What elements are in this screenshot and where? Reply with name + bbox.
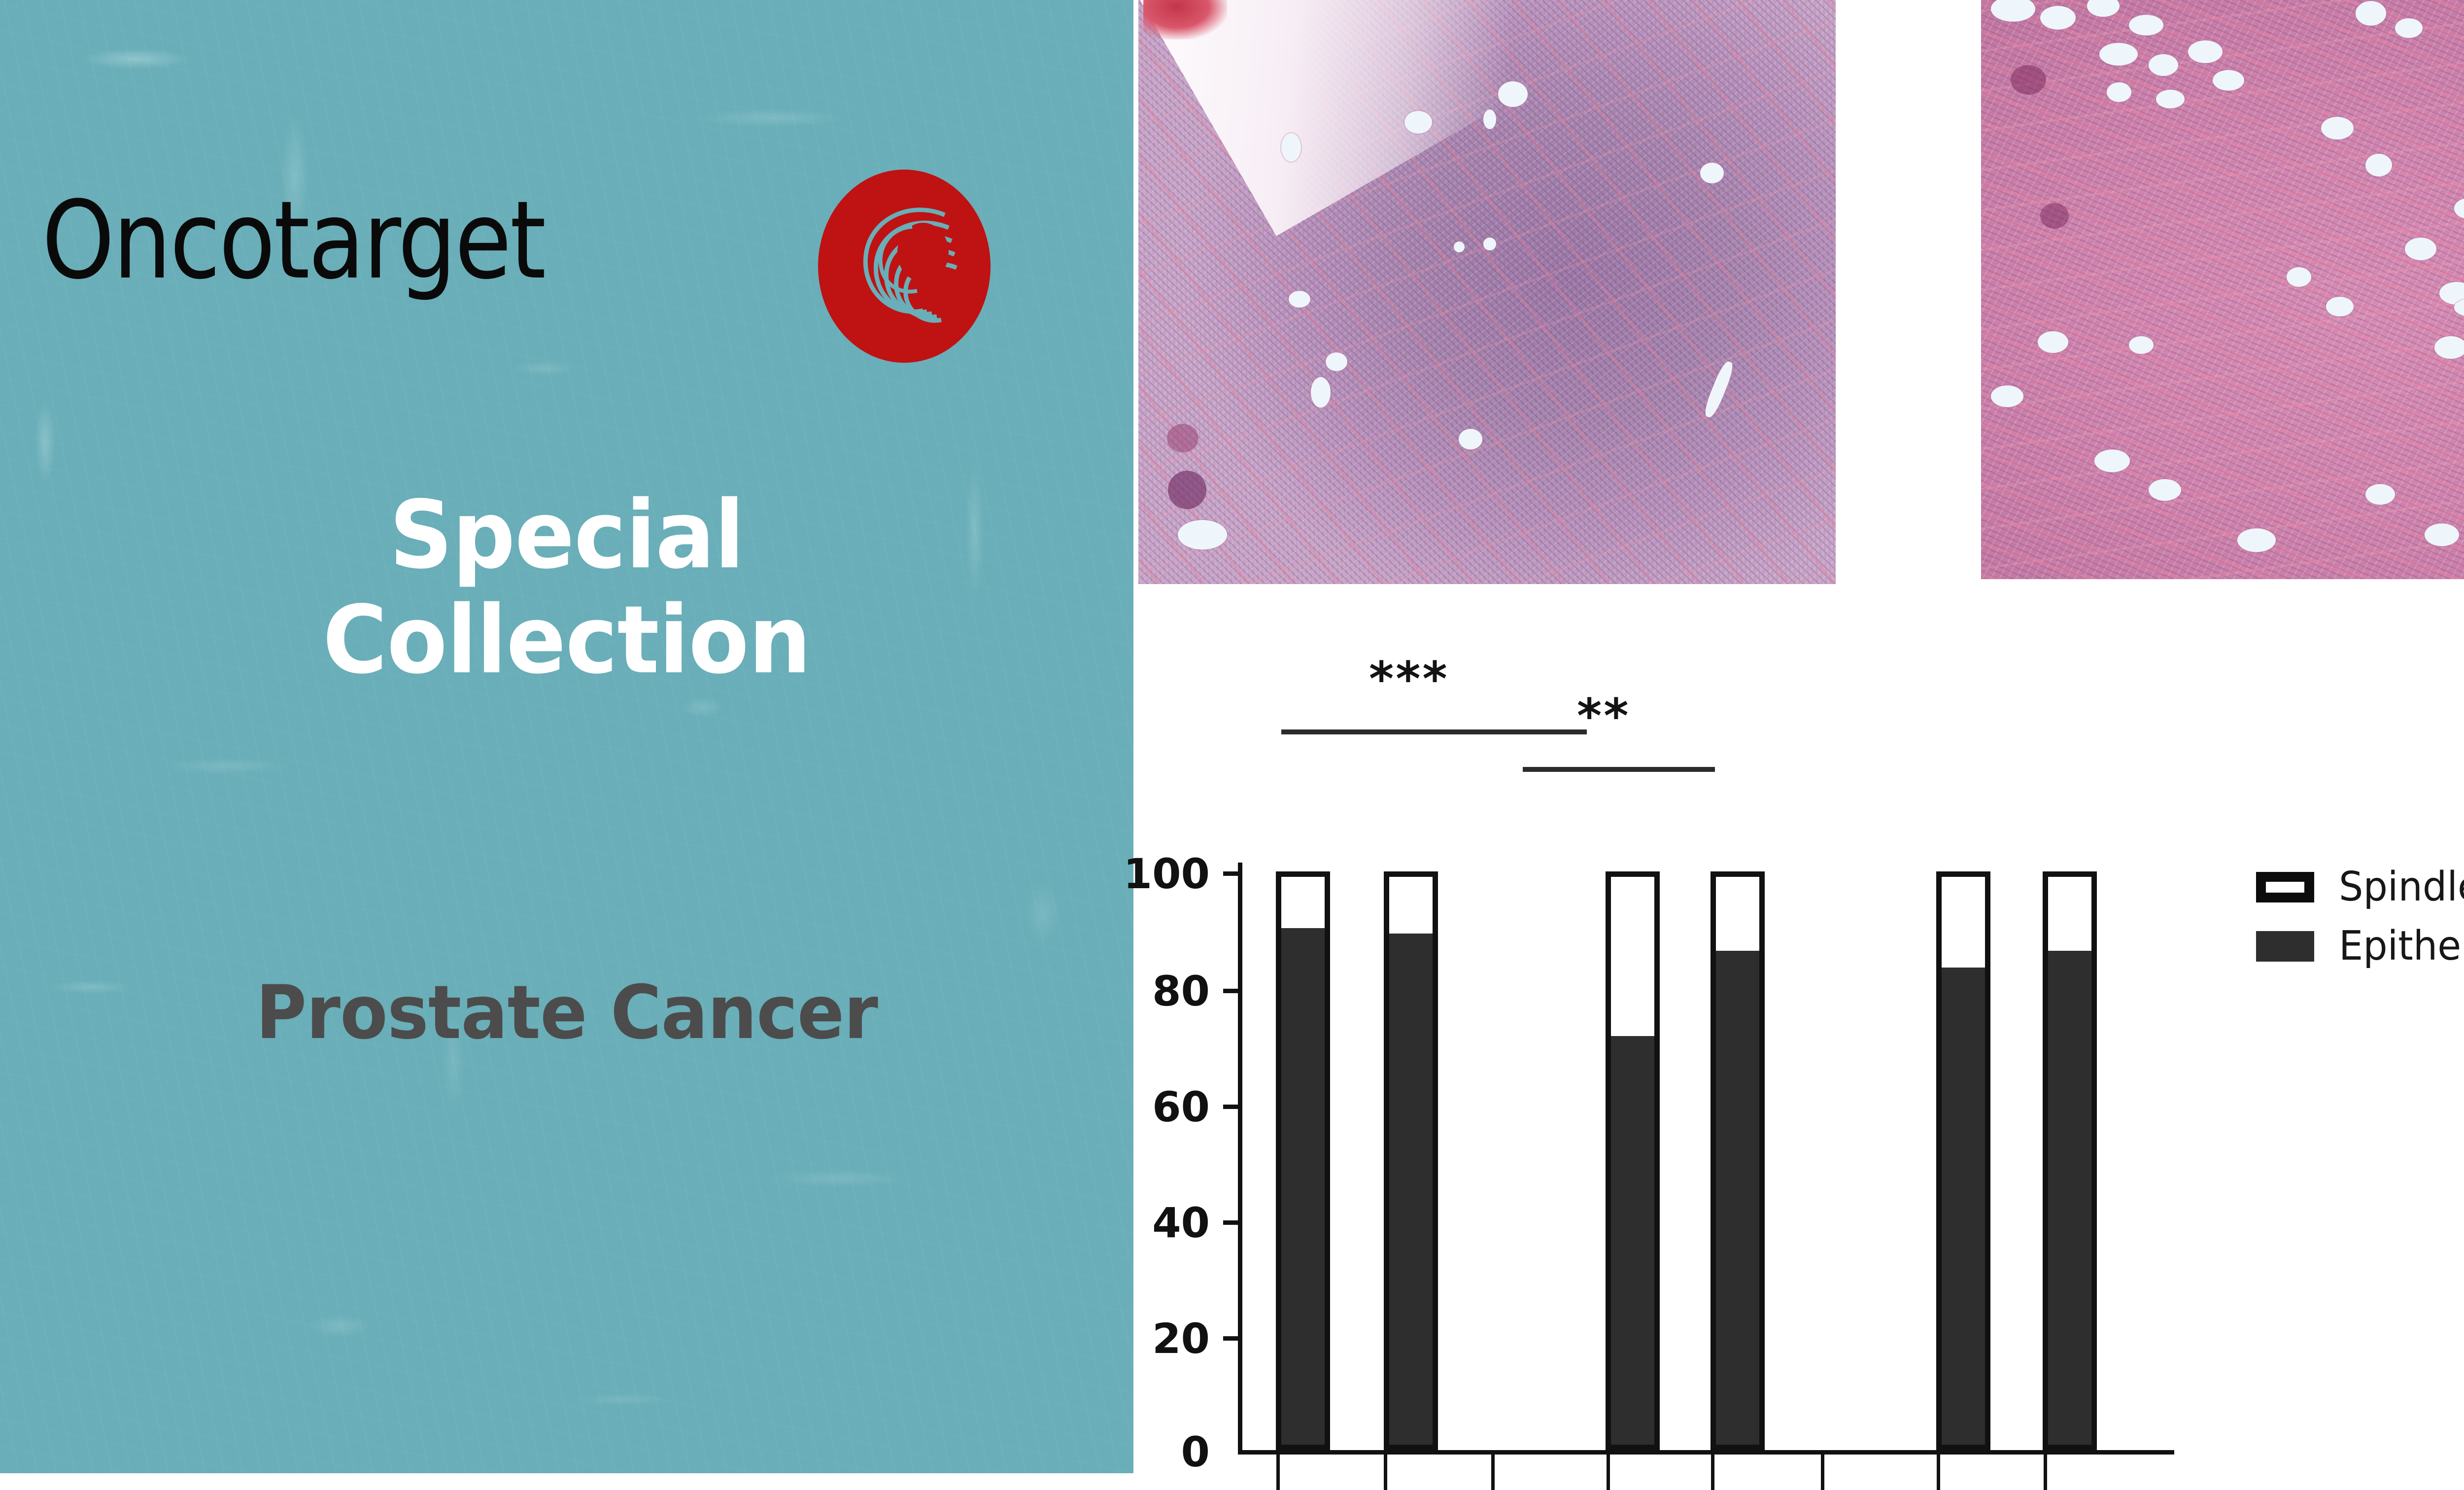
stacked-bar-chart: *** ** 100 80 60 40 20 0 (1133, 587, 2218, 1473)
x-tick-8 (2044, 1455, 2047, 1490)
x-axis-line (1238, 1450, 2174, 1455)
y-tick-label-40: 40 (1152, 1202, 1210, 1244)
x-tick-4 (1607, 1455, 1610, 1490)
branding-panel: Oncotarget Special Collection Prostate C… (0, 0, 1133, 1473)
significance-marker-2: ** (1577, 693, 1630, 740)
headline-line-1: Special (389, 481, 744, 589)
y-tick-label-80: 80 (1152, 970, 1210, 1012)
bar-group2-b (1711, 871, 1765, 1450)
y-tick-label-20: 20 (1152, 1318, 1210, 1359)
bar-group2-a (1606, 871, 1660, 1450)
y-tick-20 (1223, 1336, 1238, 1341)
legend-item-spindle[interactable]: Spindle cell tumors (2256, 865, 2464, 924)
legend-swatch-filled-square-icon (2256, 931, 2314, 962)
histology-image-right (1981, 0, 2464, 579)
x-tick-6 (1821, 1455, 1824, 1490)
legend-item-epithelial[interactable]: Epithelial tumors (2256, 924, 2464, 983)
y-tick-label-100: 100 (1124, 853, 1210, 895)
oncotarget-logo[interactable]: Oncotarget (30, 187, 867, 355)
bar-group3-b (2043, 871, 2097, 1450)
y-axis-line (1238, 863, 1242, 1454)
bar-fill-epithelial (2048, 951, 2091, 1445)
bar-group1-a (1276, 871, 1330, 1450)
bar-fill-epithelial (1389, 934, 1433, 1445)
oncotarget-logo-wordmark: Oncotarget (42, 187, 545, 295)
significance-bracket-1 (1281, 729, 1587, 734)
x-tick-5 (1711, 1455, 1714, 1490)
y-tick-label-60: 60 (1152, 1086, 1210, 1128)
spiral-target-icon (796, 168, 1013, 365)
histology-image-left (1138, 0, 1836, 584)
y-tick-40 (1223, 1220, 1238, 1225)
significance-marker-1: *** (1369, 656, 1449, 703)
x-tick-2 (1384, 1455, 1387, 1490)
legend-label-spindle: Spindle cell tumors (2339, 866, 2464, 908)
x-tick-1 (1276, 1455, 1280, 1490)
y-tick-60 (1223, 1105, 1238, 1109)
bar-group3-a (1936, 871, 1990, 1450)
significance-bracket-2 (1523, 767, 1715, 772)
headline-line-2: Collection (34, 588, 1099, 693)
x-tick-7 (1937, 1455, 1940, 1490)
page-title: Special Collection (34, 483, 1099, 693)
bar-fill-epithelial (1716, 951, 1759, 1445)
legend-swatch-open-square-icon (2256, 872, 2314, 902)
y-tick-80 (1223, 989, 1238, 993)
y-tick-100 (1223, 871, 1238, 876)
promo-banner: Oncotarget Special Collection Prostate C… (0, 0, 2464, 1473)
x-tick-3 (1491, 1455, 1495, 1490)
bar-fill-epithelial (1942, 968, 1985, 1445)
y-tick-label-0: 0 (1181, 1431, 1210, 1473)
chart-legend: Spindle cell tumors Epithelial tumors (2256, 865, 2464, 983)
legend-label-epithelial: Epithelial tumors (2339, 925, 2464, 968)
bar-fill-epithelial (1281, 928, 1325, 1445)
bar-group1-b (1384, 871, 1438, 1450)
collection-subtitle: Prostate Cancer (34, 976, 1099, 1050)
bar-fill-epithelial (1611, 1036, 1654, 1445)
